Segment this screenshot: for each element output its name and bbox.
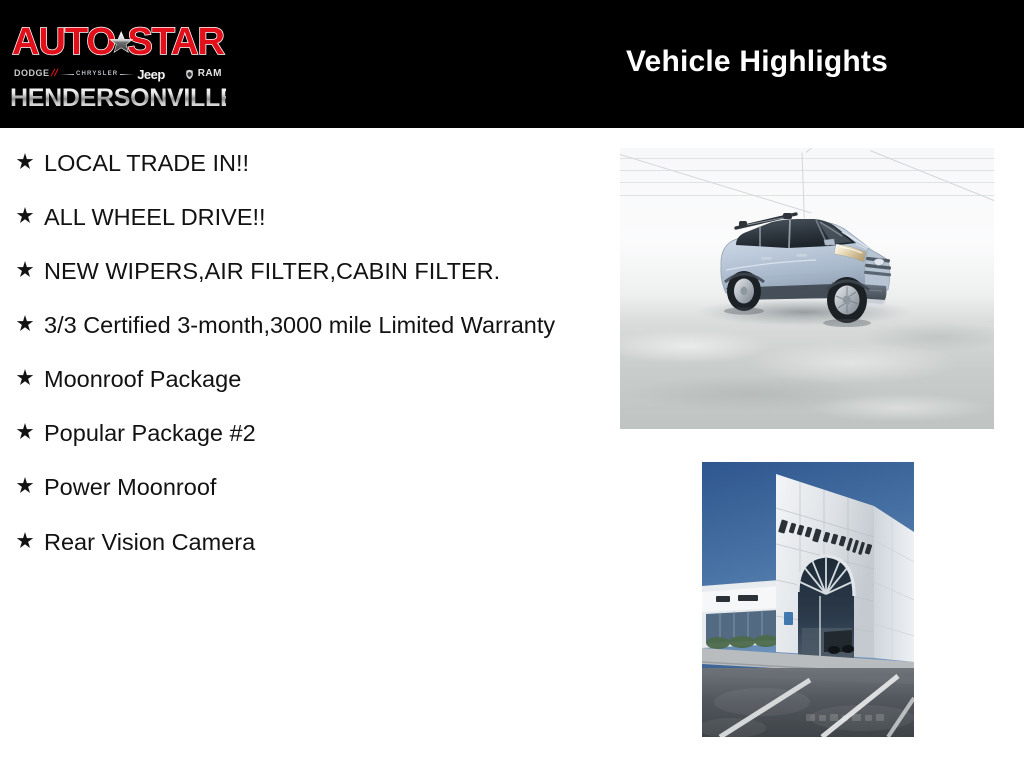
dodge-slash-icon: // bbox=[49, 69, 59, 79]
list-item: LOCAL TRADE IN!! bbox=[0, 148, 600, 178]
list-item: Power Moonroof bbox=[0, 472, 600, 502]
star-icon bbox=[16, 418, 34, 444]
list-item: Popular Package #2 bbox=[0, 418, 600, 448]
star-icon bbox=[109, 18, 133, 66]
list-item: NEW WIPERS,AIR FILTER,CABIN FILTER. bbox=[0, 256, 600, 286]
star-icon bbox=[16, 310, 34, 336]
vehicle-illustration bbox=[620, 148, 994, 429]
brand-ram: RAM bbox=[184, 69, 222, 80]
list-item: 3/3 Certified 3-month,3000 mile Limited … bbox=[0, 310, 600, 340]
list-item: ALL WHEEL DRIVE!! bbox=[0, 202, 600, 232]
vehicle-highlights-list: LOCAL TRADE IN!! ALL WHEEL DRIVE!! NEW W… bbox=[0, 148, 600, 581]
vehicle-photo bbox=[620, 148, 994, 429]
brand-chrysler-label: CHRYSLER bbox=[76, 71, 118, 77]
brand-dodge: DODGE// bbox=[14, 69, 57, 79]
logo-brand-strip: DODGE// CHRYSLER Jeep RAM bbox=[14, 63, 222, 85]
chrysler-wing-icon bbox=[60, 74, 74, 75]
list-item-label: 3/3 Certified 3-month,3000 mile Limited … bbox=[44, 310, 555, 340]
page-title: Vehicle Highlights bbox=[520, 44, 994, 80]
list-item-label: Power Moonroof bbox=[44, 472, 216, 502]
star-icon bbox=[16, 148, 34, 174]
star-icon bbox=[16, 472, 34, 498]
header-bar: AUTO STAR DODGE// CHRYSLER bbox=[0, 0, 1024, 128]
logo-wordmark: AUTO STAR bbox=[12, 20, 224, 64]
star-icon bbox=[16, 364, 34, 390]
list-item-label: Popular Package #2 bbox=[44, 418, 256, 448]
logo-word-star: STAR bbox=[127, 23, 224, 61]
list-item-label: LOCAL TRADE IN!! bbox=[44, 148, 249, 178]
star-icon bbox=[16, 202, 34, 228]
logo-city-name: HENDERSONVILLE bbox=[10, 86, 226, 111]
list-item: Moonroof Package bbox=[0, 364, 600, 394]
brand-dodge-label: DODGE bbox=[14, 68, 50, 78]
list-item-label: ALL WHEEL DRIVE!! bbox=[44, 202, 266, 232]
chrysler-wing-icon bbox=[120, 74, 134, 75]
brand-ram-label: RAM bbox=[198, 69, 222, 79]
ram-head-icon bbox=[184, 69, 195, 80]
brand-chrysler: CHRYSLER bbox=[76, 71, 118, 77]
dealership-photo bbox=[702, 462, 914, 737]
logo-word-auto: AUTO bbox=[12, 23, 115, 61]
list-item-label: NEW WIPERS,AIR FILTER,CABIN FILTER. bbox=[44, 256, 500, 286]
list-item-label: Moonroof Package bbox=[44, 364, 241, 394]
star-icon bbox=[16, 256, 34, 282]
dealer-logo: AUTO STAR DODGE// CHRYSLER bbox=[0, 0, 232, 128]
star-icon bbox=[16, 527, 34, 553]
list-item: Rear Vision Camera bbox=[0, 527, 600, 557]
brand-jeep: Jeep bbox=[137, 68, 165, 81]
list-item-label: Rear Vision Camera bbox=[44, 527, 255, 557]
dealership-illustration bbox=[702, 462, 914, 737]
